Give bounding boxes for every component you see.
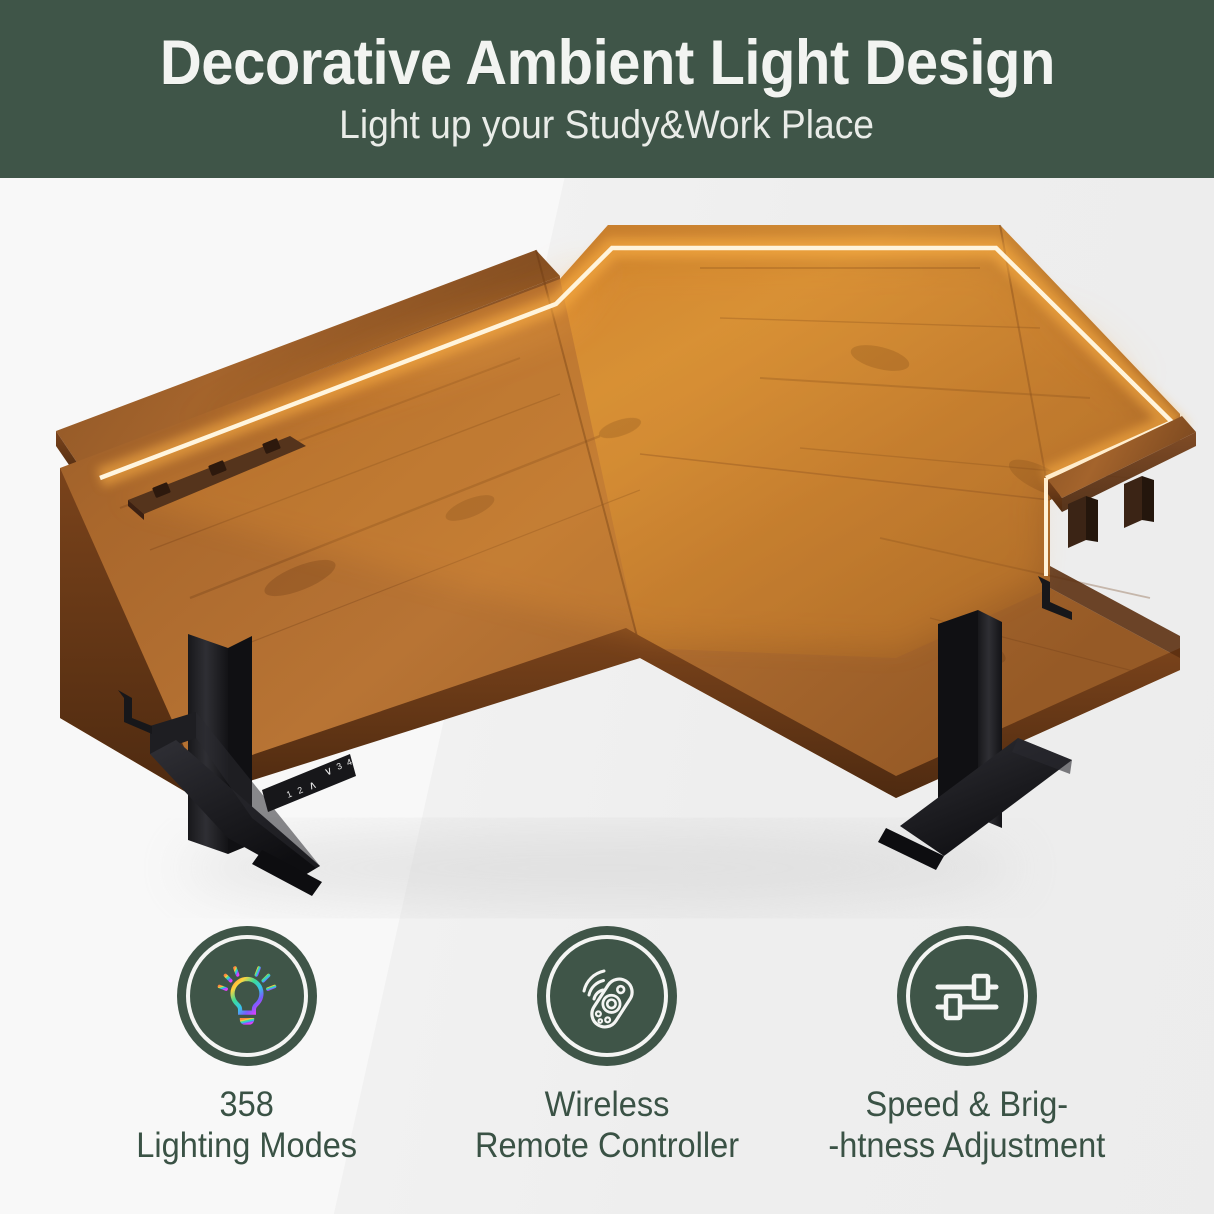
- feature-item-lighting-modes: 358 Lighting Modes: [67, 926, 427, 1167]
- feature-badge-1: [177, 926, 317, 1066]
- header-banner: Decorative Ambient Light Design Light up…: [0, 0, 1214, 178]
- feature-caption-3: Speed & Brig- -htness Adjustment: [829, 1084, 1106, 1167]
- page-title: Decorative Ambient Light Design: [160, 30, 1055, 96]
- feature-caption-2: Wireless Remote Controller: [475, 1084, 739, 1167]
- product-image: 1 2 ∧ ∨ 3 4: [0, 178, 1214, 938]
- feature-list: 358 Lighting Modes: [0, 926, 1214, 1214]
- feature-caption-1: 358 Lighting Modes: [137, 1084, 358, 1167]
- wireless-remote-icon: [564, 953, 650, 1039]
- feature-caption-3-line1: Speed & Brig-: [866, 1085, 1069, 1124]
- page-subtitle: Light up your Study&Work Place: [340, 102, 875, 148]
- slider-handle-bottom: [946, 996, 960, 1018]
- feature-caption-1-line2: Lighting Modes: [137, 1125, 358, 1166]
- feature-caption-2-line2: Remote Controller: [475, 1125, 739, 1166]
- feature-badge-3: [897, 926, 1037, 1066]
- feature-item-speed-brightness: Speed & Brig- -htness Adjustment: [787, 926, 1147, 1167]
- feature-caption-2-line1: Wireless: [545, 1085, 670, 1124]
- rainbow-lightbulb-icon: [204, 953, 290, 1039]
- feature-badge-2: [537, 926, 677, 1066]
- slider-handle-top: [974, 976, 988, 998]
- product-stage: 1 2 ∧ ∨ 3 4: [0, 178, 1214, 1214]
- feature-caption-3-line2: -htness Adjustment: [829, 1125, 1106, 1166]
- feature-item-wireless-remote: Wireless Remote Controller: [427, 926, 787, 1167]
- sliders-icon: [924, 953, 1010, 1039]
- feature-caption-1-line1: 358: [220, 1085, 274, 1124]
